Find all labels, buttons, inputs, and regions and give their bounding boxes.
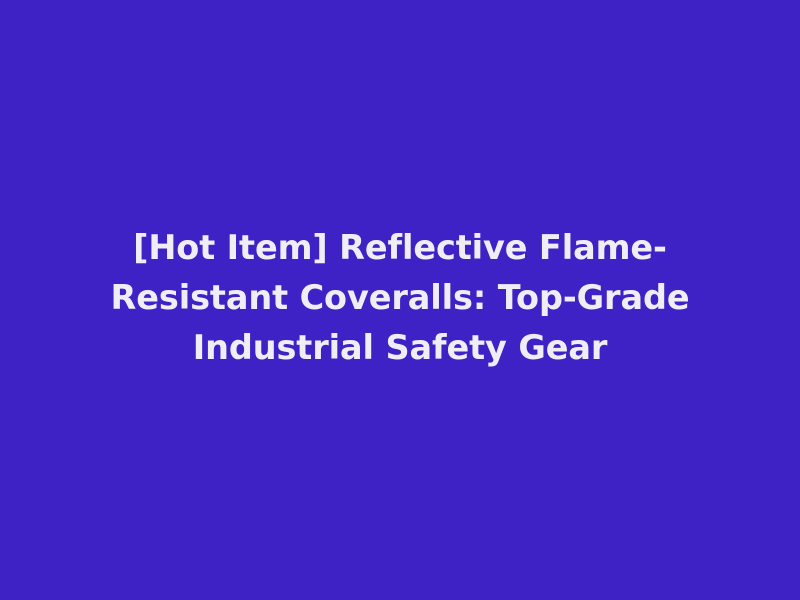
page-title: [Hot Item] Reflective Flame-Resistant Co… (55, 223, 745, 373)
title-card-page: [Hot Item] Reflective Flame-Resistant Co… (0, 0, 800, 600)
title-block: [Hot Item] Reflective Flame-Resistant Co… (55, 223, 745, 373)
